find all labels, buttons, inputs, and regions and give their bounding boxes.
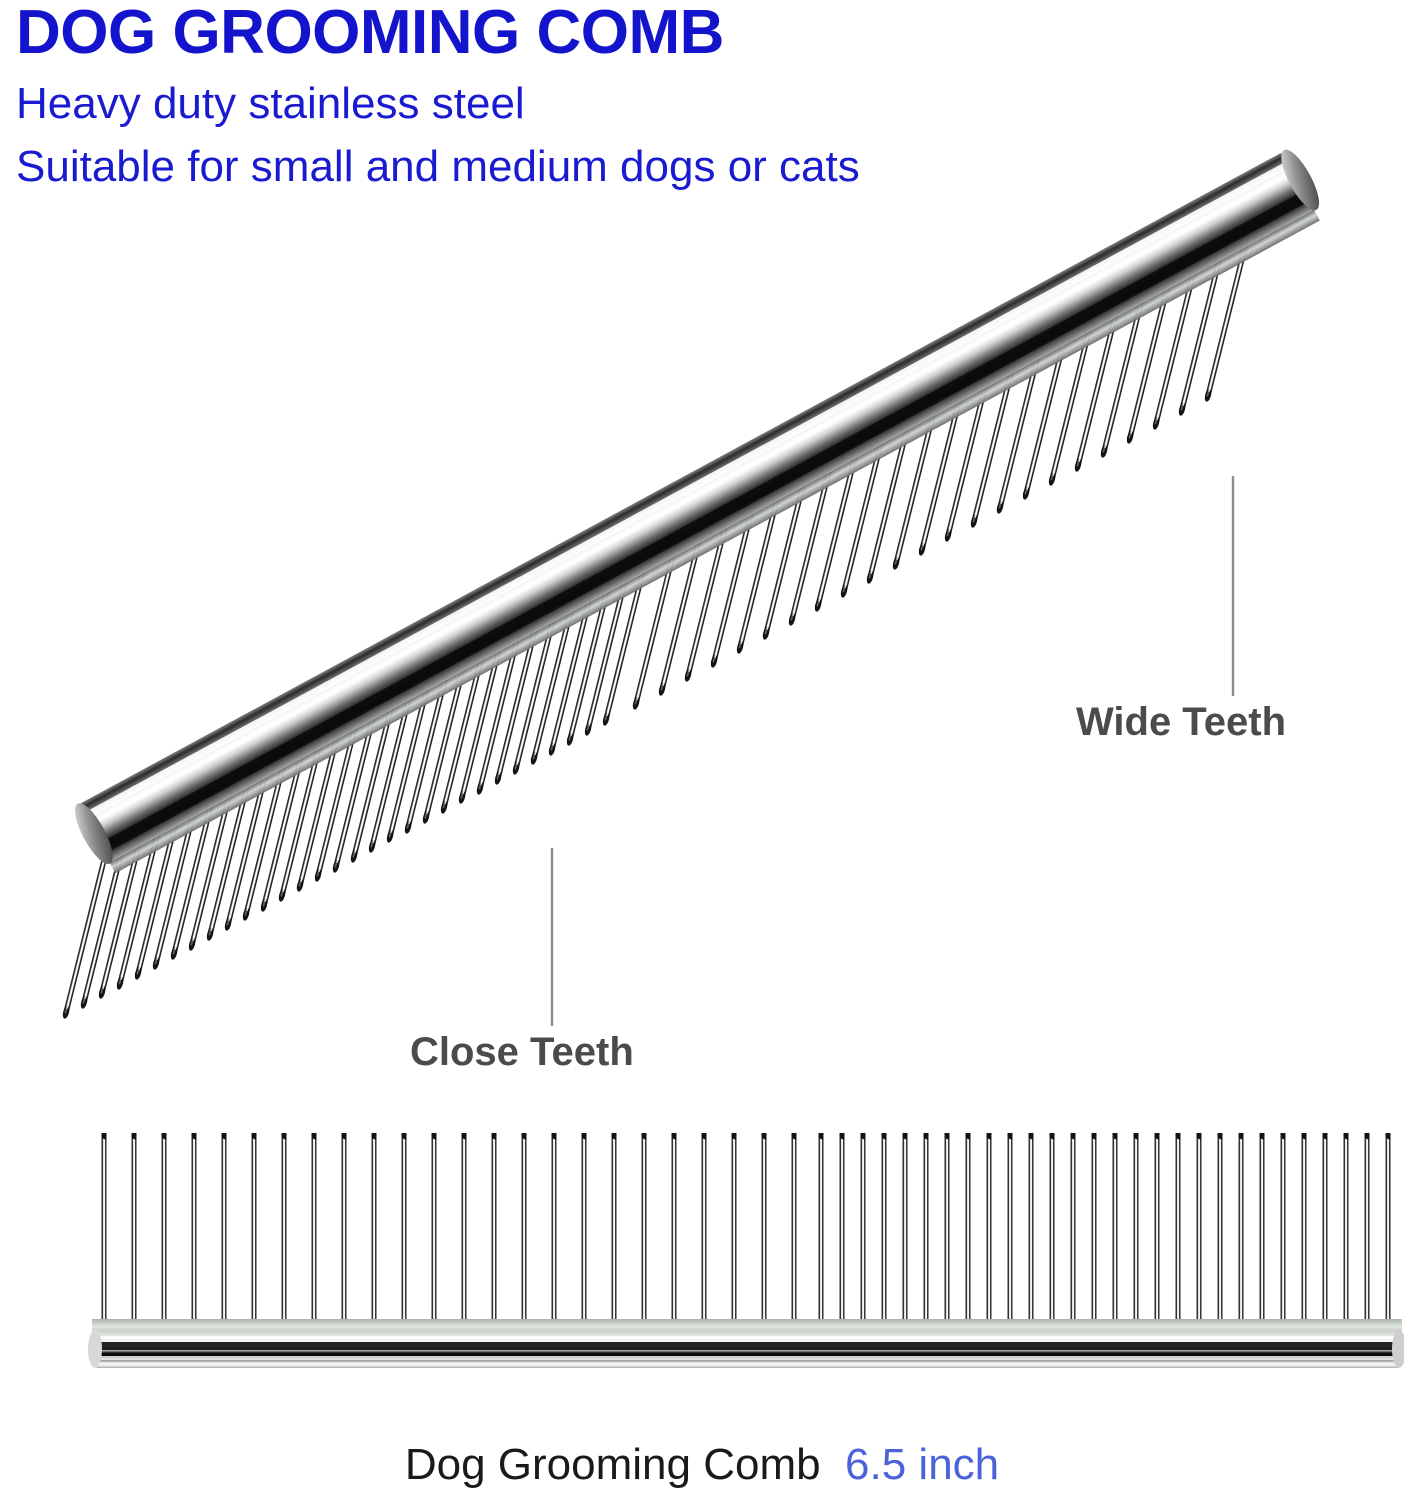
measurement-caption: Dog Grooming Comb 6.5 inch bbox=[0, 1443, 1404, 1487]
side-wide-teeth bbox=[102, 1133, 797, 1323]
comb-side-view bbox=[0, 1100, 1404, 1390]
caption-product-name: Dog Grooming Comb bbox=[405, 1440, 821, 1489]
comb-diagonal-view bbox=[0, 0, 1404, 1110]
wide-teeth-label: Wide Teeth bbox=[1076, 700, 1286, 745]
caption-size-value: 6.5 inch bbox=[845, 1440, 999, 1489]
comb-handle bbox=[68, 145, 1331, 879]
side-view-teeth-group bbox=[102, 1133, 1391, 1323]
side-view-handle-bar bbox=[88, 1319, 1404, 1368]
product-infographic: { "header": { "title": "DOG GROOMING COM… bbox=[0, 0, 1404, 1500]
close-teeth-label: Close Teeth bbox=[410, 1030, 634, 1075]
side-close-teeth bbox=[819, 1133, 1391, 1323]
